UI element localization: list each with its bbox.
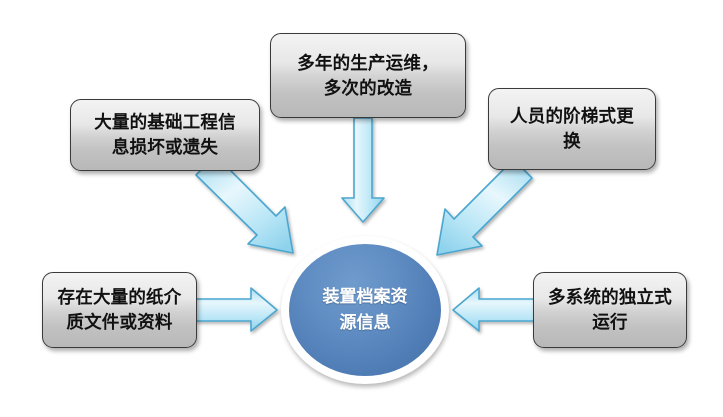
diagram-canvas: 多年的生产运维， 多次的改造 大量的基础工程信 息损坏或遗失 人员的阶梯式更 换…	[0, 0, 723, 417]
node-box-bottom-right[interactable]: 多系统的独立式 运行	[533, 272, 687, 348]
node-label-top-right: 人员的阶梯式更 换	[504, 104, 640, 154]
node-label-bottom-right: 多系统的独立式 运行	[542, 285, 678, 335]
node-label-bottom-left: 存在大量的纸介 质文件或资料	[52, 285, 188, 335]
center-node-label: 装置档案资 源信息	[323, 284, 408, 337]
arrow-top	[342, 118, 384, 222]
arrow-bottom-right	[453, 288, 534, 331]
node-box-bottom-left[interactable]: 存在大量的纸介 质文件或资料	[42, 272, 197, 348]
node-box-top-left[interactable]: 大量的基础工程信 息损坏或遗失	[70, 99, 260, 171]
arrow-top-right	[437, 160, 532, 255]
arrow-bottom-left	[196, 288, 277, 331]
center-node[interactable]: 装置档案资 源信息	[281, 236, 449, 384]
center-disc: 装置档案资 源信息	[289, 244, 441, 376]
node-box-top-right[interactable]: 人员的阶梯式更 换	[488, 88, 656, 170]
node-box-top[interactable]: 多年的生产运维， 多次的改造	[270, 33, 466, 118]
node-label-top-left: 大量的基础工程信 息损坏或遗失	[88, 110, 242, 160]
node-label-top: 多年的生产运维， 多次的改造	[291, 51, 445, 101]
